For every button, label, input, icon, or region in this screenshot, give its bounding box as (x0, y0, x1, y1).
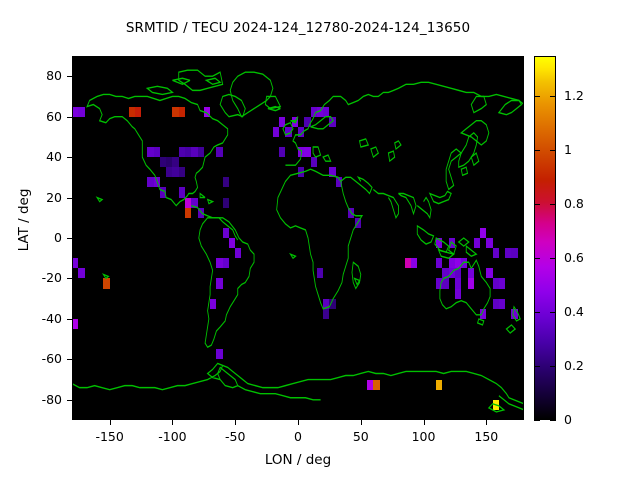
x-tick-label: 0 (268, 429, 328, 444)
x-tick-label: -150 (80, 429, 140, 444)
x-tick (172, 420, 173, 425)
y-tick-label: -40 (16, 311, 62, 326)
colorbar-tick-label: 1.2 (564, 88, 604, 103)
x-tick (110, 420, 111, 425)
y-tick (67, 359, 72, 360)
colorbar-tick-label: 0 (564, 412, 604, 427)
x-tick-label: -100 (142, 429, 202, 444)
y-tick (67, 198, 72, 199)
y-tick (67, 76, 72, 77)
x-tick (235, 420, 236, 425)
y-tick-label: 60 (16, 109, 62, 124)
colorbar-tick (550, 96, 556, 97)
colorbar-tick (534, 366, 540, 367)
x-tick-label: 50 (331, 429, 391, 444)
colorbar-tick (534, 96, 540, 97)
page-title: SRMTID / TECU 2024-124_12780-2024-124_13… (0, 20, 596, 36)
y-tick-label: -60 (16, 351, 62, 366)
x-tick (361, 420, 362, 425)
y-axis-label: LAT / deg (16, 160, 32, 280)
y-tick (67, 238, 72, 239)
x-tick (298, 420, 299, 425)
y-tick (67, 400, 72, 401)
y-tick-label: 80 (16, 68, 62, 83)
colorbar-tick (534, 312, 540, 313)
colorbar-tick-label: 1 (564, 142, 604, 157)
y-tick (67, 278, 72, 279)
x-tick-label: 150 (456, 429, 516, 444)
colorbar-tick (550, 420, 556, 421)
colorbar-tick (534, 258, 540, 259)
chart-root: SRMTID / TECU 2024-124_12780-2024-124_13… (0, 0, 640, 480)
y-tick (67, 319, 72, 320)
y-tick-label: -80 (16, 392, 62, 407)
colorbar-tick (550, 150, 556, 151)
colorbar-tick (534, 204, 540, 205)
colorbar-tick (550, 312, 556, 313)
colorbar-tick (534, 150, 540, 151)
y-tick (67, 117, 72, 118)
map-plot-area (72, 56, 524, 420)
x-tick (424, 420, 425, 425)
y-tick (67, 157, 72, 158)
x-tick-label: -50 (205, 429, 265, 444)
x-tick-label: 100 (394, 429, 454, 444)
colorbar-tick (534, 420, 540, 421)
colorbar-tick (550, 366, 556, 367)
colorbar-tick (550, 204, 556, 205)
coastline-overlay (72, 56, 524, 420)
colorbar-tick-label: 0.6 (564, 250, 604, 265)
colorbar-tick (550, 258, 556, 259)
colorbar-tick-label: 0.4 (564, 304, 604, 319)
x-axis-label: LON / deg (72, 452, 524, 468)
colorbar-tick-label: 0.2 (564, 358, 604, 373)
colorbar-tick-label: 0.8 (564, 196, 604, 211)
x-tick (486, 420, 487, 425)
